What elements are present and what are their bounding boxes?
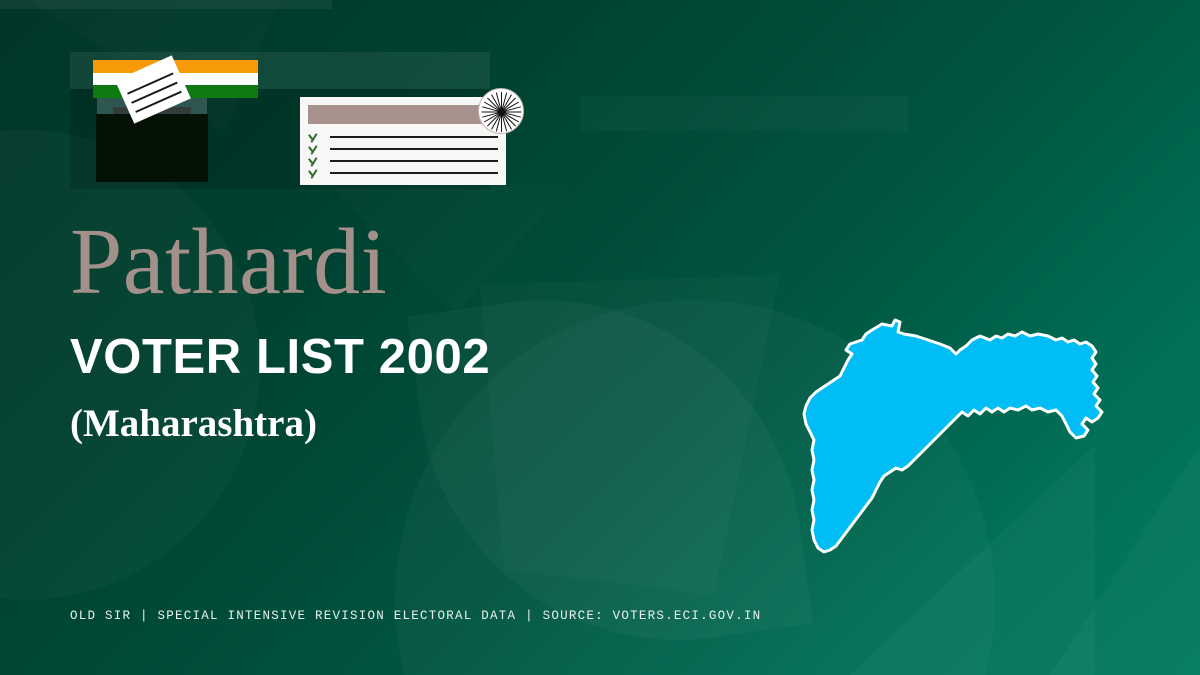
check-icon — [308, 155, 324, 167]
ballot-box-body — [96, 114, 208, 182]
ballot-paper-line — [127, 72, 173, 94]
document-rule — [330, 172, 498, 174]
document-row — [308, 143, 498, 155]
decorative-top-strip — [0, 0, 332, 9]
check-icon — [308, 167, 324, 179]
maharashtra-map-svg — [800, 310, 1130, 575]
page-title: Pathardi — [70, 215, 387, 309]
document-row — [308, 131, 498, 143]
document-row — [308, 167, 498, 179]
maharashtra-map — [800, 310, 1130, 575]
page-subtitle: VOTER LIST 2002 — [70, 333, 490, 382]
ashoka-chakra-icon — [478, 88, 524, 134]
ballot-paper-line — [131, 82, 177, 104]
document-rule — [330, 160, 498, 162]
region-label: (Maharashtra) — [70, 404, 317, 443]
document-rule — [330, 136, 498, 138]
footer-caption: OLD SIR | SPECIAL INTENSIVE REVISION ELE… — [70, 609, 761, 623]
document-header-bar — [308, 105, 498, 124]
document-rule — [330, 148, 498, 150]
decorative-right-bar — [580, 96, 908, 131]
document-row-list — [308, 131, 498, 179]
slide-canvas: Pathardi VOTER LIST 2002 (Maharashtra) O… — [0, 0, 1200, 675]
check-icon — [308, 143, 324, 155]
document-row — [308, 155, 498, 167]
check-icon — [308, 131, 324, 143]
illustration-panel — [70, 52, 490, 189]
maharashtra-outline-path — [804, 320, 1102, 552]
decorative-quad-shape — [480, 275, 780, 595]
voter-checklist-document — [300, 97, 506, 185]
